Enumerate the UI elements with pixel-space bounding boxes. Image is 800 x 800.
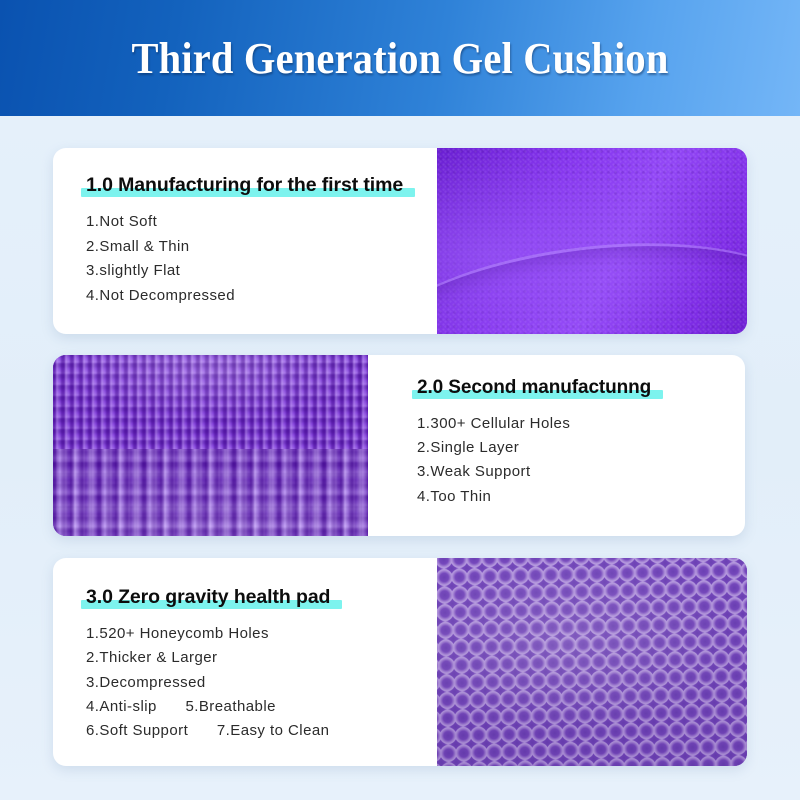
feature-text: 3.Weak Support <box>417 463 531 480</box>
feature-text: 2.Single Layer <box>417 439 519 456</box>
list-item: 4.Anti-slip 5.Breathable <box>86 695 437 719</box>
header-banner: Third Generation Gel Cushion <box>0 0 800 116</box>
infographic-page: Third Generation Gel Cushion 1.0 Manufac… <box>0 0 800 800</box>
feature-text: 6.Soft Support <box>86 722 188 739</box>
feature-card-2: 2.0 Second manufactunng 1.300+ Cellular … <box>53 355 745 536</box>
card-3-heading: 3.0 Zero gravity health pad <box>86 586 330 609</box>
feature-text: 1.Not Soft <box>86 213 157 230</box>
card-1-feature-list: 1.Not Soft 2.Small & Thin 3.slightly Fla… <box>86 210 437 308</box>
gel-cushion-third-generation-photo <box>437 558 747 766</box>
card-3-text-panel: 3.0 Zero gravity health pad 1.520+ Honey… <box>53 558 437 766</box>
list-item: 1.520+ Honeycomb Holes <box>86 622 437 646</box>
list-item: 2.Thicker & Larger <box>86 646 437 670</box>
card-2-feature-list: 1.300+ Cellular Holes 2.Single Layer 3.W… <box>417 412 745 509</box>
card-3-feature-list: 1.520+ Honeycomb Holes 2.Thicker & Large… <box>86 622 437 743</box>
gel-cushion-first-generation-photo <box>437 148 747 334</box>
feature-text: 4.Anti-slip <box>86 698 157 715</box>
feature-text: 3.slightly Flat <box>86 262 180 279</box>
list-item: 6.Soft Support 7.Easy to Clean <box>86 719 437 743</box>
list-item: 2.Small & Thin <box>86 235 437 260</box>
feature-text: 4.Too Thin <box>417 488 491 505</box>
list-item: 3.Decompressed <box>86 671 437 695</box>
page-title: Third Generation Gel Cushion <box>32 33 768 84</box>
card-2-text-panel: 2.0 Second manufactunng 1.300+ Cellular … <box>368 355 745 536</box>
card-1-heading-label: 1.0 Manufacturing for the first time <box>86 174 403 196</box>
gel-cushion-second-generation-photo <box>53 355 368 536</box>
list-item: 1.Not Soft <box>86 210 437 235</box>
violet-gel-surface-texture <box>437 148 747 334</box>
honeycomb-lattice-texture <box>437 558 747 766</box>
feature-text: 4.Not Decompressed <box>86 287 235 304</box>
feature-text: 1.520+ Honeycomb Holes <box>86 625 269 642</box>
feature-text: 1.300+ Cellular Holes <box>417 415 570 432</box>
angled-cellular-honeycomb-texture <box>53 355 368 536</box>
list-item: 3.Weak Support <box>417 460 745 484</box>
feature-text-secondary: 7.Easy to Clean <box>217 719 330 743</box>
list-item: 1.300+ Cellular Holes <box>417 412 745 436</box>
list-item: 4.Not Decompressed <box>86 284 437 309</box>
list-item: 4.Too Thin <box>417 485 745 509</box>
card-2-heading-label: 2.0 Second manufactunng <box>417 377 651 398</box>
feature-text: 2.Small & Thin <box>86 238 190 255</box>
feature-text: 3.Decompressed <box>86 674 206 691</box>
card-2-heading: 2.0 Second manufactunng <box>417 377 651 399</box>
feature-card-3: 3.0 Zero gravity health pad 1.520+ Honey… <box>53 558 747 766</box>
feature-text-secondary: 5.Breathable <box>185 695 275 719</box>
feature-card-1: 1.0 Manufacturing for the first time 1.N… <box>53 148 747 334</box>
card-1-heading: 1.0 Manufacturing for the first time <box>86 174 403 197</box>
feature-text: 2.Thicker & Larger <box>86 649 217 666</box>
list-item: 3.slightly Flat <box>86 259 437 284</box>
card-3-heading-label: 3.0 Zero gravity health pad <box>86 586 330 608</box>
card-1-text-panel: 1.0 Manufacturing for the first time 1.N… <box>53 148 437 334</box>
list-item: 2.Single Layer <box>417 436 745 460</box>
